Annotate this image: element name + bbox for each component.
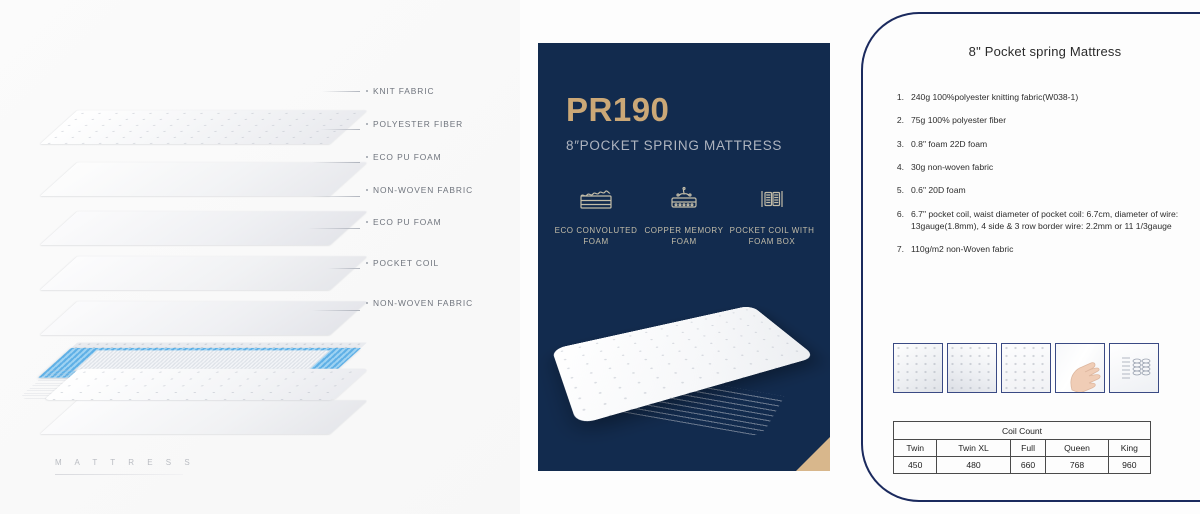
brand-text: M A T T R E S S bbox=[55, 458, 195, 467]
bullet-dot bbox=[366, 221, 368, 223]
spec-text: 6.7" pocket coil, waist diameter of pock… bbox=[911, 209, 1193, 233]
spec-list: 1. 240g 100%polyester knitting fabric(W0… bbox=[893, 92, 1193, 267]
quilting-detail-thumb[interactable] bbox=[1001, 343, 1051, 393]
layer-label-eco-pu-foam-lower: ECO PU FOAM bbox=[366, 217, 442, 227]
model-subtitle: 8″POCKET SPRING MATTRESS bbox=[566, 138, 830, 153]
bullet-dot bbox=[366, 262, 368, 264]
coil-count-value: 480 bbox=[937, 457, 1010, 474]
size-header: Full bbox=[1010, 440, 1046, 457]
coil-count-value: 660 bbox=[1010, 457, 1046, 474]
layer-label-eco-pu-foam-top: ECO PU FOAM bbox=[366, 152, 442, 162]
coil-count-table: Coil Count Twin Twin XL Full Queen King … bbox=[893, 421, 1151, 474]
product-hero-panel: PR190 8″POCKET SPRING MATTRESS ECO CONVO… bbox=[538, 43, 830, 471]
layer-label-text: KNIT FABRIC bbox=[373, 86, 434, 96]
spec-text: 30g non-woven fabric bbox=[911, 162, 1193, 174]
layer-label-text: ECO PU FOAM bbox=[373, 152, 442, 162]
size-header: Queen bbox=[1046, 440, 1108, 457]
bullet-dot bbox=[366, 123, 368, 125]
spec-item: 3. 0.8" foam 22D foam bbox=[893, 139, 1193, 151]
hand-icon bbox=[1056, 344, 1105, 393]
exploded-diagram-panel: KNIT FABRIC POLYESTER FIBER ECO PU FOAM … bbox=[0, 0, 520, 514]
layer-label-text: POLYESTER FIBER bbox=[373, 119, 463, 129]
layer-label-pocket-coil: POCKET COIL bbox=[366, 258, 439, 268]
layer-label-knit-fabric: KNIT FABRIC bbox=[366, 86, 434, 96]
layer-labels: KNIT FABRIC POLYESTER FIBER ECO PU FOAM … bbox=[352, 0, 522, 514]
feature-icon-row: ECO CONVOLUTED FOAM COPPER MEMORY FOAM bbox=[552, 185, 816, 248]
spec-text: 0.6" 20D foam bbox=[911, 185, 1193, 197]
pocket-coil-box-icon bbox=[752, 185, 792, 217]
spec-number: 5. bbox=[893, 185, 904, 197]
page-title: 8" Pocket spring Mattress bbox=[905, 44, 1185, 59]
spec-number: 3. bbox=[893, 139, 904, 151]
layer-label-text: NON-WOVEN FABRIC bbox=[373, 185, 473, 195]
thumbnail-strip bbox=[893, 343, 1159, 393]
layer-label-text: ECO PU FOAM bbox=[373, 217, 442, 227]
coil-count-value: 450 bbox=[894, 457, 937, 474]
convoluted-foam-icon bbox=[576, 185, 616, 217]
spec-item: 5. 0.6" 20D foam bbox=[893, 185, 1193, 197]
spec-item: 7. 110g/m2 non-Woven fabric bbox=[893, 244, 1193, 256]
spec-item: 4. 30g non-woven fabric bbox=[893, 162, 1193, 174]
specification-panel: 8" Pocket spring Mattress 1. 240g 100%po… bbox=[845, 0, 1200, 514]
spec-text: 240g 100%polyester knitting fabric(W038-… bbox=[911, 92, 1193, 104]
brand-underline bbox=[55, 474, 183, 475]
bullet-dot bbox=[366, 189, 368, 191]
coil-count-value: 960 bbox=[1108, 457, 1150, 474]
bullet-dot bbox=[366, 156, 368, 158]
model-number: PR190 bbox=[566, 91, 830, 129]
feature-label: COPPER MEMORY FOAM bbox=[640, 226, 728, 248]
mattress-corner-thumb[interactable] bbox=[893, 343, 943, 393]
spec-number: 4. bbox=[893, 162, 904, 174]
hand-on-foam-thumb[interactable] bbox=[1055, 343, 1105, 393]
feature-eco-convoluted-foam: ECO CONVOLUTED FOAM bbox=[552, 185, 640, 248]
hero-mattress-image bbox=[546, 273, 824, 453]
table-row: 450 480 660 768 960 bbox=[894, 457, 1151, 474]
layer-label-non-woven-bottom: NON-WOVEN FABRIC bbox=[366, 298, 473, 308]
layer-label-text: NON-WOVEN FABRIC bbox=[373, 298, 473, 308]
layer-knit-fabric bbox=[40, 110, 367, 144]
product-spec-sheet: KNIT FABRIC POLYESTER FIBER ECO PU FOAM … bbox=[0, 0, 1200, 514]
spec-number: 6. bbox=[893, 209, 904, 233]
feature-label: POCKET COIL WITH FOAM BOX bbox=[728, 226, 816, 248]
finished-mattress-base bbox=[44, 322, 344, 430]
layer-polyester-fiber bbox=[40, 162, 367, 196]
copper-memory-foam-icon bbox=[664, 185, 704, 217]
spec-text: 75g 100% polyester fiber bbox=[911, 115, 1193, 127]
spec-item: 6. 6.7" pocket coil, waist diameter of p… bbox=[893, 209, 1193, 233]
corner-accent bbox=[796, 437, 830, 471]
brand-wordmark: M A T T R E S S bbox=[55, 458, 195, 475]
feature-copper-memory-foam: COPPER MEMORY FOAM bbox=[640, 185, 728, 248]
bullet-dot bbox=[366, 90, 368, 92]
layer-label-non-woven-top: NON-WOVEN FABRIC bbox=[366, 185, 473, 195]
spec-number: 2. bbox=[893, 115, 904, 127]
bullet-dot bbox=[366, 302, 368, 304]
pocket-coils-thumb[interactable] bbox=[1109, 343, 1159, 393]
size-header: King bbox=[1108, 440, 1150, 457]
spec-text: 0.8" foam 22D foam bbox=[911, 139, 1193, 151]
spec-item: 1. 240g 100%polyester knitting fabric(W0… bbox=[893, 92, 1193, 104]
table-caption-row: Coil Count bbox=[894, 422, 1151, 440]
feature-pocket-coil-foam-box: POCKET COIL WITH FOAM BOX bbox=[728, 185, 816, 248]
spec-text: 110g/m2 non-Woven fabric bbox=[911, 244, 1193, 256]
layer-label-polyester-fiber: POLYESTER FIBER bbox=[366, 119, 463, 129]
coil-count-caption: Coil Count bbox=[894, 422, 1151, 440]
coil-count-value: 768 bbox=[1046, 457, 1108, 474]
layer-label-text: POCKET COIL bbox=[373, 258, 439, 268]
size-header: Twin XL bbox=[937, 440, 1010, 457]
layer-non-woven-fabric-top bbox=[40, 256, 367, 290]
coils-icon bbox=[1110, 344, 1159, 393]
feature-label: ECO CONVOLUTED FOAM bbox=[552, 226, 640, 248]
spec-item: 2. 75g 100% polyester fiber bbox=[893, 115, 1193, 127]
mattress-angled-thumb[interactable] bbox=[947, 343, 997, 393]
size-header: Twin bbox=[894, 440, 937, 457]
spec-number: 7. bbox=[893, 244, 904, 256]
spec-number: 1. bbox=[893, 92, 904, 104]
table-header-row: Twin Twin XL Full Queen King bbox=[894, 440, 1151, 457]
